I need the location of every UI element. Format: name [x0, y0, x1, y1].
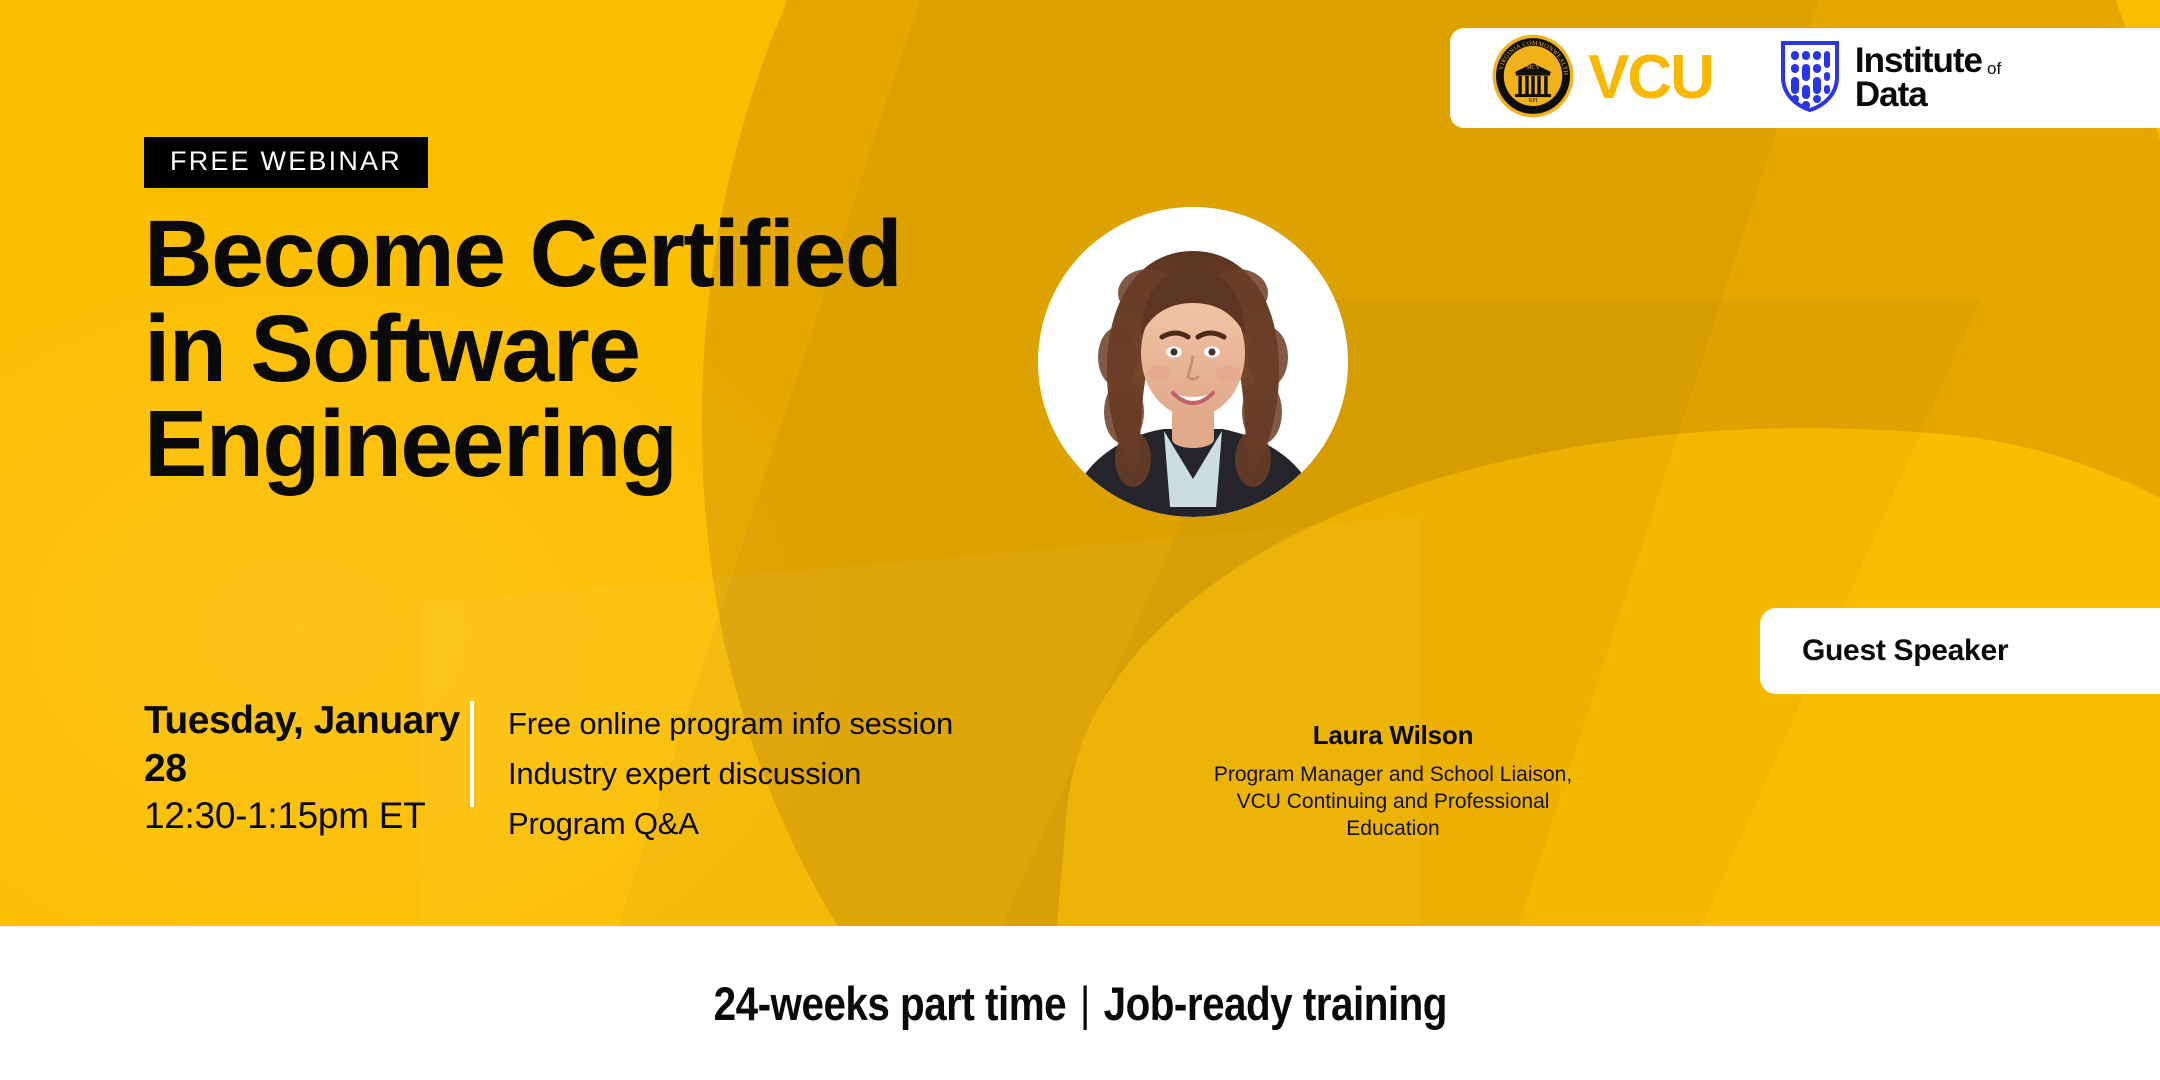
vcu-wordmark: VCU	[1588, 47, 1713, 109]
event-highlights: Free online program info session Industr…	[508, 697, 953, 850]
event-details: Tuesday, January 28 12:30-1:15pm ET Free…	[144, 697, 953, 850]
footer-right: Job-ready training	[1103, 976, 1446, 1031]
webinar-promo-banner: MCV RPI 1838 VIRGINIA COMMONWEALTH UNIVE…	[0, 0, 2160, 1080]
page-title: Become Certified in Software Engineering	[144, 207, 1144, 492]
event-time: 12:30-1:15pm ET	[144, 792, 464, 840]
footer-left: 24-weeks part time	[713, 976, 1065, 1031]
logo-bar: MCV RPI 1838 VIRGINIA COMMONWEALTH UNIVE…	[1450, 28, 2160, 128]
event-date: Tuesday, January 28	[144, 697, 464, 792]
iod-line1: Institute	[1855, 44, 1982, 78]
headline-line-2: in Software	[144, 302, 1144, 397]
highlight-item: Industry expert discussion	[508, 749, 953, 799]
speaker-name: Laura Wilson	[1193, 720, 1593, 751]
event-datetime: Tuesday, January 28 12:30-1:15pm ET	[144, 697, 464, 850]
headline-line-1: Become Certified	[144, 207, 1144, 302]
iod-line2: Data	[1855, 78, 2001, 112]
speaker-role: Program Manager and School Liaison, VCU …	[1193, 762, 1593, 843]
footer-strip: 24-weeks part time | Job-ready training	[0, 926, 2160, 1080]
speaker-role-line-3: Education	[1193, 816, 1593, 843]
svg-text:RPI: RPI	[1528, 97, 1537, 103]
headline-line-3: Engineering	[144, 397, 1144, 492]
free-webinar-badge: FREE WEBINAR	[144, 137, 428, 188]
svg-text:MCV: MCV	[1526, 65, 1540, 71]
svg-text:1838: 1838	[1528, 107, 1538, 112]
speaker-role-line-2: VCU Continuing and Professional	[1193, 789, 1593, 816]
guest-speaker-badge: Guest Speaker	[1760, 608, 2160, 694]
vcu-seal-icon: MCV RPI 1838 VIRGINIA COMMONWEALTH UNIVE…	[1490, 33, 1576, 124]
speaker-role-line-1: Program Manager and School Liaison,	[1193, 762, 1593, 789]
institute-of-data-logo-lockup: Institute of Data	[1779, 39, 2001, 118]
iod-wordmark: Institute of Data	[1855, 44, 2001, 113]
iod-shield-icon	[1779, 39, 1841, 118]
guest-speaker-label: Guest Speaker	[1802, 634, 2008, 668]
vertical-divider	[470, 701, 474, 807]
highlight-item: Program Q&A	[508, 799, 953, 849]
highlight-item: Free online program info session	[508, 699, 953, 749]
vcu-logo-lockup: MCV RPI 1838 VIRGINIA COMMONWEALTH UNIVE…	[1490, 33, 1713, 124]
speaker-avatar	[1038, 207, 1348, 517]
footer-separator: |	[1080, 976, 1090, 1031]
iod-of: of	[1987, 61, 2001, 78]
footer-text: 24-weeks part time | Job-ready training	[713, 976, 1446, 1031]
